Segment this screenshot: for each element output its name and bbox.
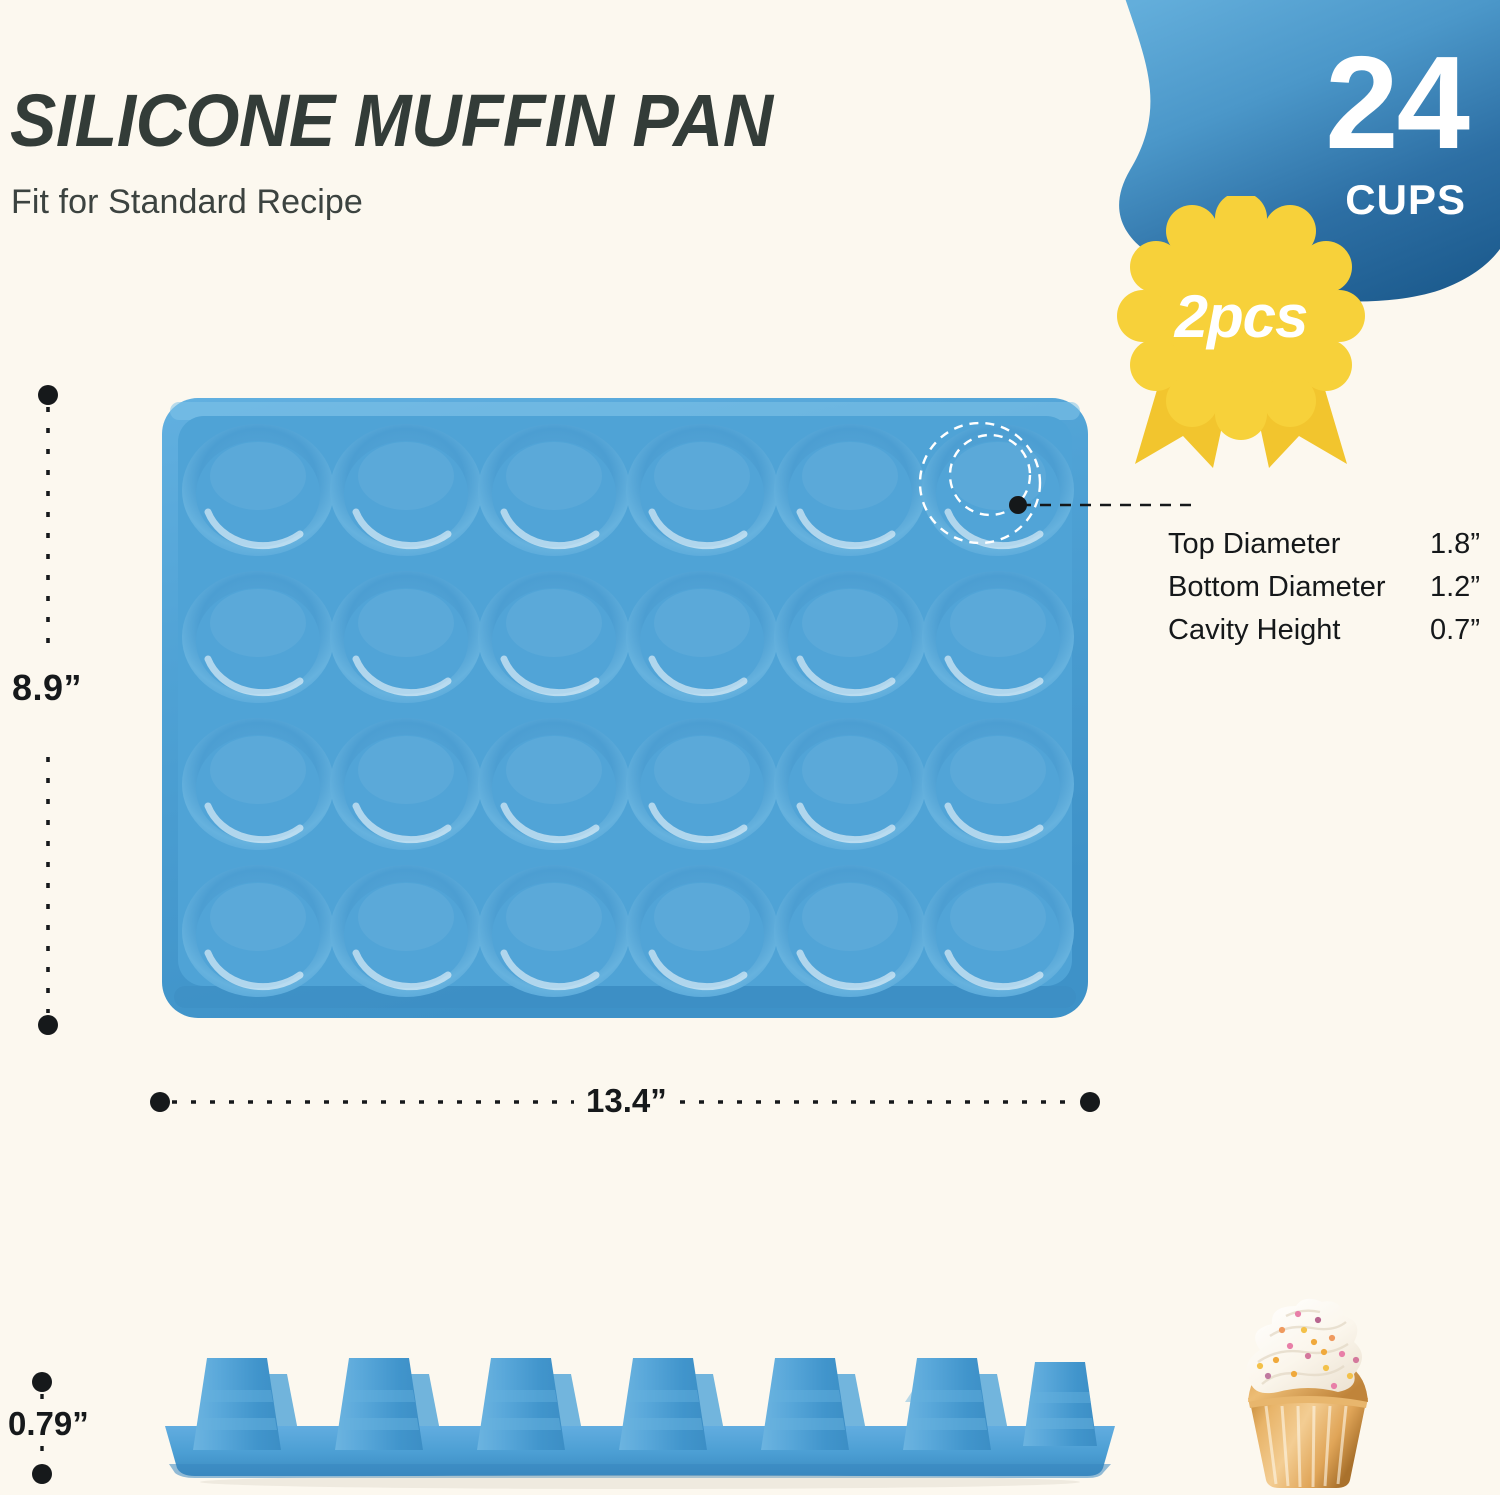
spec-row-cavity-height: Cavity Height 0.7”: [1168, 609, 1480, 652]
thickness-dimension-label: 0.79”: [8, 1405, 89, 1443]
dimension-endpoint-dot: [38, 1015, 58, 1035]
spec-label-cavity-height: Cavity Height: [1168, 609, 1430, 652]
height-dimension-label: 8.9”: [12, 667, 82, 709]
pieces-badge-label: 2pcs: [1105, 196, 1377, 436]
spec-label-bottom-diameter: Bottom Diameter: [1168, 566, 1430, 609]
page-title: SILICONE MUFFIN PAN: [10, 78, 773, 163]
muffin-pan-side-view: [155, 1318, 1125, 1493]
muffin-pan-top-view: [160, 394, 1090, 1022]
spec-value-top-diameter: 1.8”: [1430, 523, 1480, 566]
cupcake-illustration: [1208, 1290, 1408, 1495]
height-dimension-line: [28, 385, 68, 1035]
spec-label-top-diameter: Top Diameter: [1168, 523, 1430, 566]
width-dimension-label: 13.4”: [586, 1082, 667, 1120]
spec-row-top-diameter: Top Diameter 1.8”: [1168, 523, 1480, 566]
spec-value-cavity-height: 0.7”: [1430, 609, 1480, 652]
spec-row-bottom-diameter: Bottom Diameter 1.2”: [1168, 566, 1480, 609]
page-subtitle: Fit for Standard Recipe: [11, 183, 363, 222]
dimension-endpoint-dot: [38, 385, 58, 405]
infographic-page: 24 CUPS 2pcs SILICONE MUFFIN PAN Fit for…: [0, 0, 1500, 1495]
dimension-endpoint-dot: [150, 1092, 170, 1112]
dimension-endpoint-dot: [32, 1372, 52, 1392]
dimension-endpoint-dot: [32, 1464, 52, 1484]
spec-value-bottom-diameter: 1.2”: [1430, 566, 1480, 609]
cups-count: 24: [1325, 42, 1468, 163]
spec-table: Top Diameter 1.8” Bottom Diameter 1.2” C…: [1168, 523, 1480, 652]
dimension-endpoint-dot: [1080, 1092, 1100, 1112]
